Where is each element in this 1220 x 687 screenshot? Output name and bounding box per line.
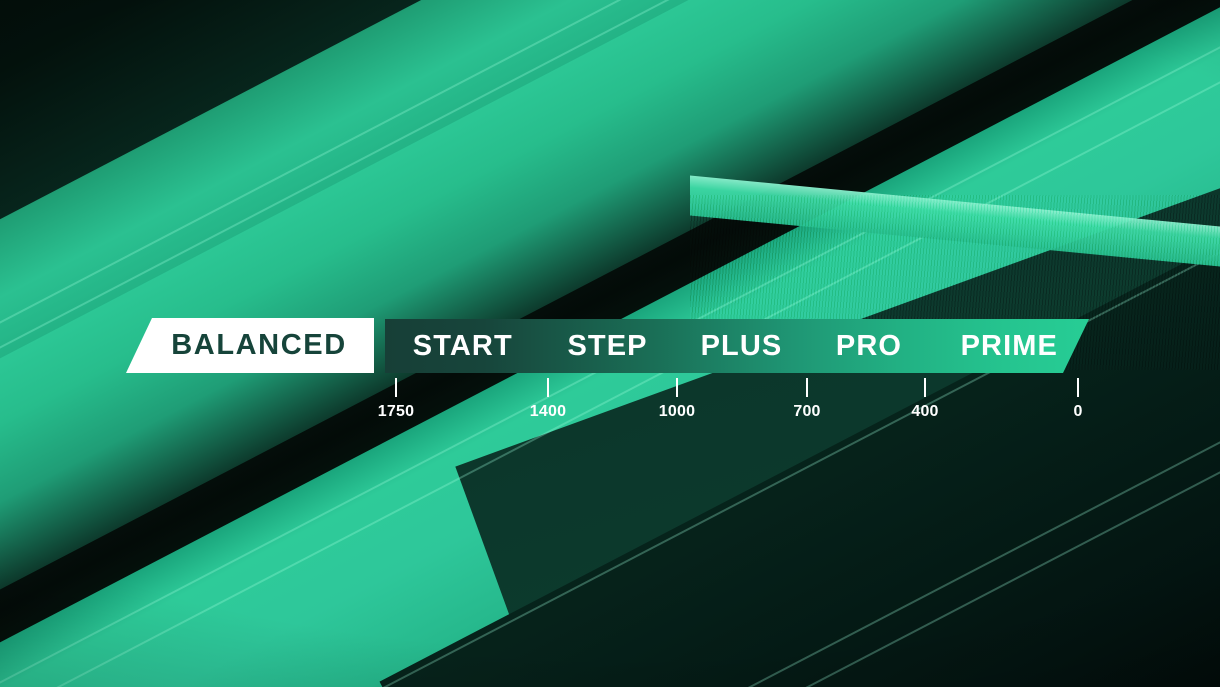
range-bar: STARTSTEPPLUSPROPRIME	[385, 319, 1089, 373]
balanced-tag-label: BALANCED	[153, 329, 347, 362]
range-segment-pro[interactable]: PRO	[808, 319, 929, 373]
slide-canvas: BALANCED STARTSTEPPLUSPROPRIME 175014001…	[0, 0, 1220, 687]
axis-tick	[547, 378, 549, 397]
axis-tick	[1077, 378, 1079, 397]
range-segment-step[interactable]: STEP	[541, 319, 675, 373]
axis-tick-label: 0	[1073, 403, 1082, 421]
axis-tick-label: 700	[793, 403, 820, 421]
range-segment-label: PLUS	[701, 330, 783, 363]
axis-tick-label: 400	[911, 403, 938, 421]
range-segment-plus[interactable]: PLUS	[675, 319, 809, 373]
range-segment-label: PRIME	[961, 330, 1058, 363]
axis-tick	[924, 378, 926, 397]
range-segment-label: STEP	[567, 330, 647, 363]
axis-tick-label: 1400	[530, 403, 566, 421]
axis-tick-label: 1000	[659, 403, 695, 421]
range-segment-label: PRO	[836, 330, 902, 363]
axis-tick-label: 1750	[378, 403, 414, 421]
range-segment-label: START	[413, 330, 513, 363]
balanced-tag[interactable]: BALANCED	[126, 318, 374, 373]
axis-tick	[676, 378, 678, 397]
range-segment-prime[interactable]: PRIME	[930, 319, 1089, 373]
axis-tick	[395, 378, 397, 397]
axis-tick	[806, 378, 808, 397]
range-segment-start[interactable]: START	[385, 319, 541, 373]
